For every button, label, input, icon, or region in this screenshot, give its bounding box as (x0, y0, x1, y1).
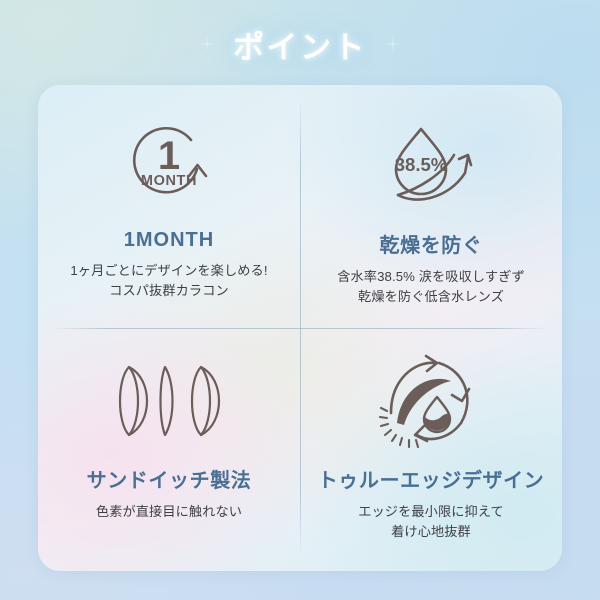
feature-cell-true-edge-design: トゥルーエッジデザイン エッジを最小限に抑えて 着け心地抜群 (300, 328, 562, 571)
feature-description-line-1: エッジを最小限に抑えて (358, 502, 504, 522)
feature-description-line-2: 乾燥を防ぐ低含水レンズ (337, 287, 525, 307)
eye-teardrop-cycle-icon (377, 352, 485, 450)
features-grid: 1 MONTH 1MONTH 1ヶ月ごとにデザインを楽しめる! コスパ抜群カラコ… (38, 85, 562, 571)
feature-description-line-1: 含水率38.5% 涙を吸収しすぎず (337, 267, 525, 287)
feature-title: トゥルーエッジデザイン (318, 464, 545, 493)
feature-description-line-1: 1ヶ月ごとにデザインを楽しめる! (70, 261, 267, 281)
feature-description: 1ヶ月ごとにデザインを楽しめる! コスパ抜群カラコン (70, 261, 267, 302)
feature-description-line-2: 着け心地抜群 (358, 522, 504, 542)
poster-canvas: ポイント 1 MONTH 1MONTH 1ヶ月ごとにデザインを楽しめる! (0, 0, 600, 600)
feature-cell-one-month: 1 MONTH 1MONTH 1ヶ月ごとにデザインを楽しめる! コスパ抜群カラコ… (38, 85, 300, 328)
feature-description-line-2: コスパ抜群カラコン (70, 281, 267, 301)
three-lens-layers-icon (113, 352, 225, 450)
feature-description: 含水率38.5% 涙を吸収しすぎず 乾燥を防ぐ低含水レンズ (337, 267, 525, 308)
icon-number: 1 (158, 134, 180, 178)
feature-title: 1MONTH (124, 229, 214, 252)
circular-arrow-icon: 1 MONTH (119, 111, 219, 215)
icon-water-content-value: 38.5% (395, 154, 447, 175)
icon-caption: MONTH (141, 173, 197, 189)
feature-cell-sandwich-method: サンドイッチ製法 色素が直接目に触れない (38, 328, 300, 571)
feature-description-line-1: 色素が直接目に触れない (96, 502, 242, 522)
feature-cell-prevent-dryness: 38.5% 乾燥を防ぐ 含水率38.5% 涙を吸収しすぎず 乾燥を防ぐ低含水レン… (300, 85, 562, 328)
features-card: 1 MONTH 1MONTH 1ヶ月ごとにデザインを楽しめる! コスパ抜群カラコ… (38, 85, 562, 571)
sparkle-icon-left (197, 34, 217, 54)
feature-title: 乾燥を防ぐ (380, 229, 483, 258)
title-row: ポイント (0, 16, 600, 72)
page-title: ポイント (233, 22, 367, 67)
feature-description: 色素が直接目に触れない (96, 502, 242, 522)
sparkle-icon-right (383, 34, 403, 54)
feature-description: エッジを最小限に抑えて 着け心地抜群 (358, 502, 504, 543)
water-drop-icon: 38.5% (376, 111, 486, 215)
feature-title: サンドイッチ製法 (87, 464, 252, 493)
